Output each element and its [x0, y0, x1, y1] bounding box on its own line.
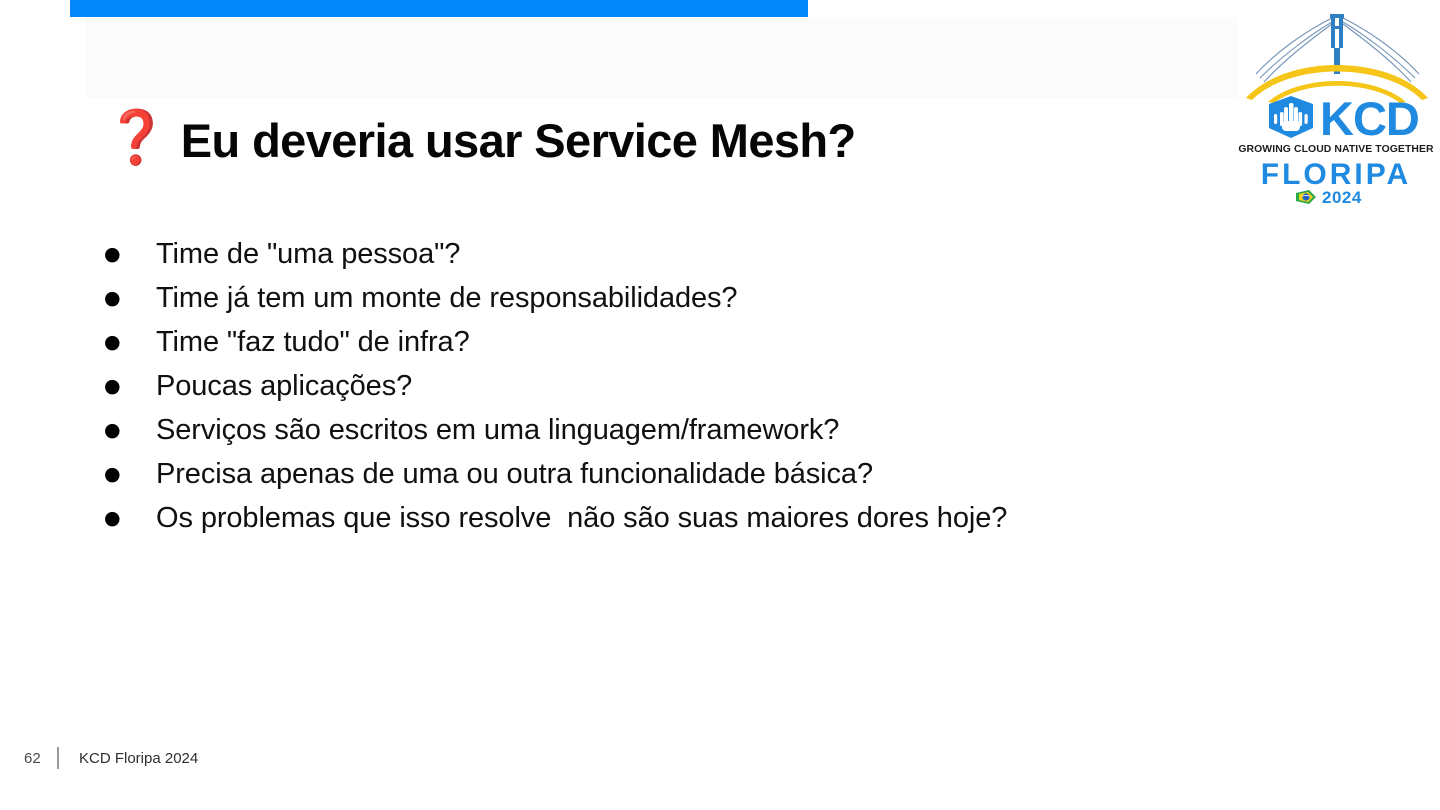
- bullet-list: ● Time de "uma pessoa"? ● Time já tem um…: [104, 238, 1284, 546]
- bullet-dot-icon: ●: [104, 245, 156, 264]
- list-item: ● Serviços são escritos em uma linguagem…: [104, 414, 1284, 458]
- accent-bar: [70, 0, 808, 17]
- bullet-dot-icon: ●: [104, 333, 156, 352]
- list-item-label: Time já tem um monte de responsabilidade…: [156, 282, 737, 315]
- slide: ❓ Eu deveria usar Service Mesh? ● Time d…: [0, 0, 1440, 810]
- footer-label: KCD Floripa 2024: [79, 750, 198, 767]
- list-item-label: Poucas aplicações?: [156, 370, 412, 403]
- hands-hexagon-icon: [1269, 96, 1313, 138]
- header-panel: [85, 17, 1237, 98]
- red-question-mark-icon: ❓: [104, 112, 169, 164]
- list-item-label: Serviços são escritos em uma linguagem/f…: [156, 414, 839, 447]
- logo-year-text: 2024: [1322, 188, 1362, 207]
- list-item-label: Os problemas que isso resolve não são su…: [156, 502, 1007, 535]
- footer: 62 KCD Floripa 2024: [24, 746, 198, 770]
- list-item: ● Time "faz tudo" de infra?: [104, 326, 1284, 370]
- list-item-label: Precisa apenas de uma ou outra funcional…: [156, 458, 873, 491]
- bullet-dot-icon: ●: [104, 421, 156, 440]
- logo-city-text: FLORIPA: [1261, 158, 1411, 191]
- logo-tagline-text: GROWING CLOUD NATIVE TOGETHER: [1238, 144, 1434, 155]
- brazil-flag-icon: [1296, 190, 1316, 204]
- page-number: 62: [24, 750, 57, 767]
- logo-svg: KCD GROWING CLOUD NATIVE TOGETHER FLORIP…: [1238, 2, 1434, 208]
- list-item: ● Time de "uma pessoa"?: [104, 238, 1284, 282]
- list-item: ● Precisa apenas de uma ou outra funcion…: [104, 458, 1284, 502]
- page-title: ❓ Eu deveria usar Service Mesh?: [104, 104, 856, 176]
- list-item: ● Time já tem um monte de responsabilida…: [104, 282, 1284, 326]
- logo-brand-text: KCD: [1320, 92, 1419, 145]
- list-item-label: Time "faz tudo" de infra?: [156, 326, 470, 359]
- kcd-floripa-logo: KCD GROWING CLOUD NATIVE TOGETHER FLORIP…: [1238, 2, 1434, 208]
- bullet-dot-icon: ●: [104, 509, 156, 528]
- footer-divider: [57, 747, 59, 769]
- bullet-dot-icon: ●: [104, 465, 156, 484]
- list-item: ● Poucas aplicações?: [104, 370, 1284, 414]
- list-item: ● Os problemas que isso resolve não são …: [104, 502, 1284, 546]
- bullet-dot-icon: ●: [104, 289, 156, 308]
- list-item-label: Time de "uma pessoa"?: [156, 238, 460, 271]
- slide-title-text: Eu deveria usar Service Mesh?: [181, 113, 856, 168]
- bullet-dot-icon: ●: [104, 377, 156, 396]
